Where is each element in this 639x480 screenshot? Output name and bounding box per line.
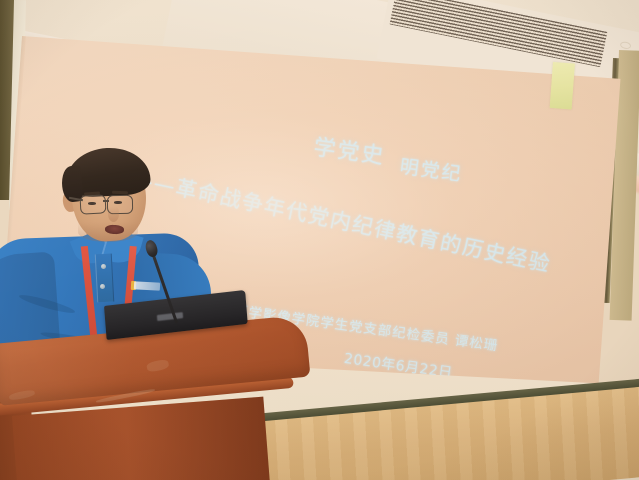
yellow-note-card xyxy=(550,62,575,109)
nose xyxy=(108,206,119,222)
eyebrow-right xyxy=(112,191,128,195)
slide-title-part2: 明党纪 xyxy=(399,156,464,186)
wooden-podium xyxy=(0,330,314,480)
vent-fixture-dot xyxy=(619,41,631,50)
lecture-hall-photo: 学党史明党纪 ——革命战争年代党内纪律教育的历史经验 医学影像学院学生党支部纪检… xyxy=(0,0,639,480)
shirt-placket xyxy=(95,254,114,303)
eyeglasses-lens-left xyxy=(80,194,107,214)
eyeglasses-bridge xyxy=(103,200,109,202)
laptop-logo xyxy=(157,312,183,321)
vent-slots xyxy=(390,0,608,67)
shirt-button xyxy=(100,284,105,289)
slide-title-part1: 学党史 xyxy=(312,135,387,169)
slide-title: 学党史明党纪 xyxy=(312,129,466,180)
shirt-logo xyxy=(134,281,160,290)
shirt-button xyxy=(101,264,106,269)
mouth xyxy=(105,225,124,235)
